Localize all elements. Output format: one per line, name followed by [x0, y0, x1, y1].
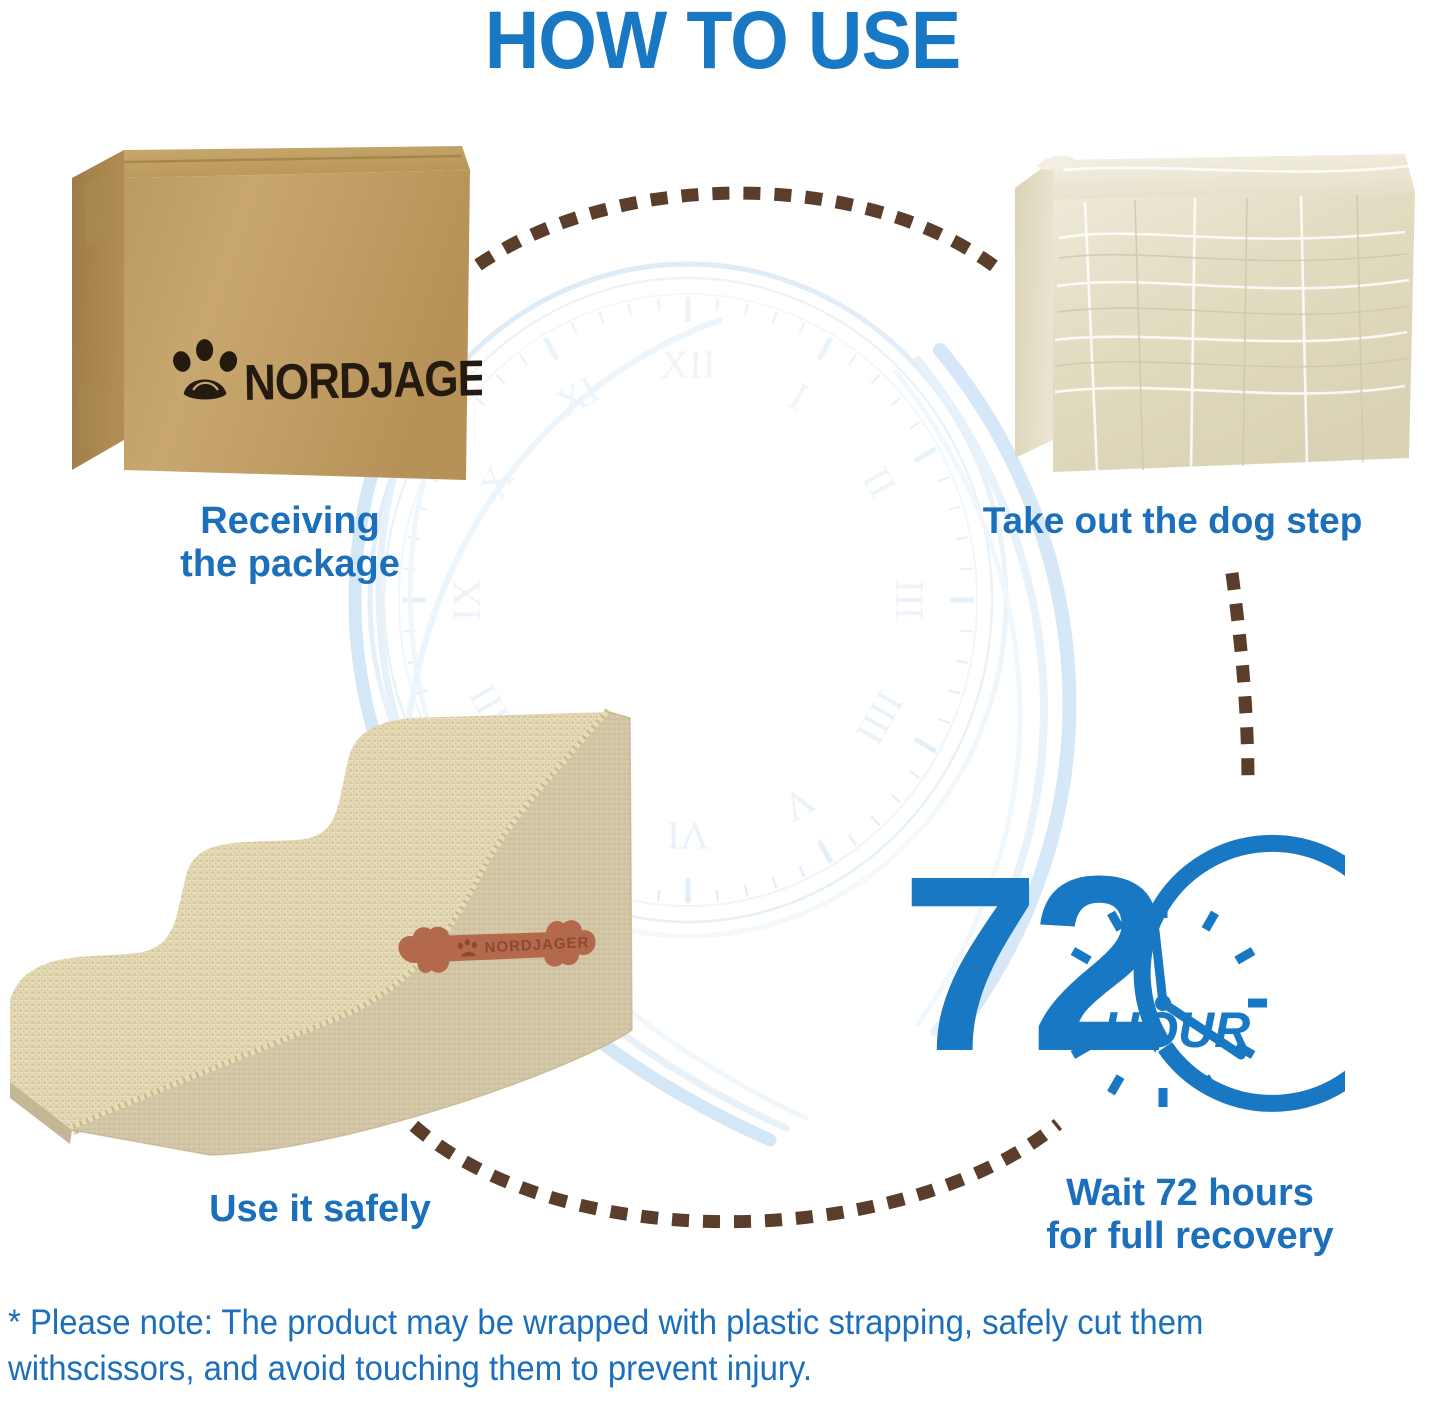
72-hour-clock-icon: 72 HOUR	[895, 785, 1345, 1125]
shrink-wrapped-product-photo	[985, 140, 1425, 490]
how-to-use-infographic: XIIIIIIIIIIIIVVIVIIVIIIIXXXI HOW TO USE	[0, 0, 1445, 1404]
svg-text:XII: XII	[660, 342, 716, 387]
clock-number: 72	[901, 824, 1160, 1103]
dog-step-stairs-photo: NORDJAGER	[10, 700, 650, 1160]
caption-receiving-the-package: Receiving the package	[60, 500, 520, 585]
svg-text:VI: VI	[667, 813, 709, 858]
svg-text:II: II	[854, 459, 906, 505]
cardboard-box-photo: NORDJAGER	[62, 140, 482, 500]
svg-text:XI: XI	[548, 366, 607, 426]
svg-text:IX: IX	[444, 579, 489, 621]
page-title: HOW TO USE	[58, 0, 1387, 84]
svg-text:III: III	[887, 580, 932, 620]
svg-text:NORDJAGER: NORDJAGER	[244, 350, 482, 412]
caption-use-it-safely: Use it safely	[40, 1188, 600, 1231]
svg-text:V: V	[775, 777, 823, 830]
caption-take-out-the-dog-step: Take out the dog step	[900, 500, 1445, 541]
clock-unit: HOUR	[1103, 1002, 1250, 1058]
svg-text:IIII: IIII	[847, 683, 913, 752]
caption-wait-72-hours: Wait 72 hours for full recovery	[940, 1172, 1440, 1257]
dashed-arrow-box-to-wrapped	[470, 160, 1010, 290]
dashed-arrow-wrapped-to-clock	[1170, 555, 1310, 795]
footnote-note: * Please note: The product may be wrappe…	[8, 1300, 1343, 1392]
svg-text:I: I	[782, 373, 816, 419]
